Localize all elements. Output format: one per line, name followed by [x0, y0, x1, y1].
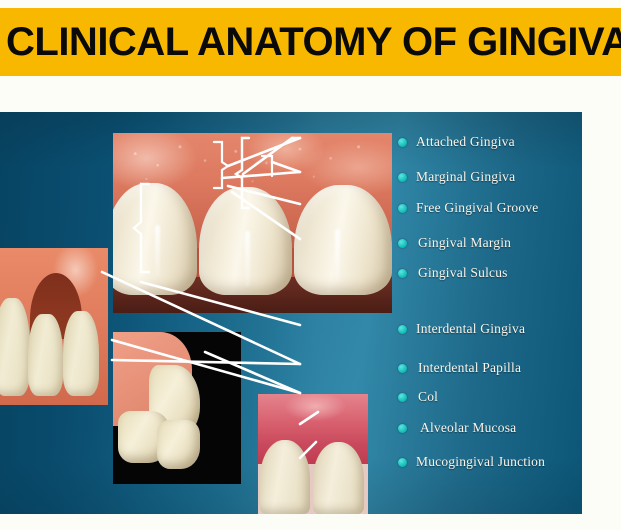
label-text-alveolar-mucosa: Alveolar Mucosa: [420, 420, 516, 436]
tooth-highlight: [245, 231, 250, 287]
label-row-attached-gingiva[interactable]: Attached Gingiva: [398, 134, 515, 150]
label-text-attached-gingiva: Attached Gingiva: [416, 134, 515, 150]
label-row-gingival-margin[interactable]: Gingival Margin: [398, 235, 511, 251]
label-row-interdental-gingiva[interactable]: Interdental Gingiva: [398, 321, 525, 337]
title-banner: CLINICAL ANATOMY OF GINGIVA: [0, 8, 621, 76]
bullet-dot-icon: [398, 269, 407, 278]
label-row-alveolar-mucosa[interactable]: Alveolar Mucosa: [398, 420, 516, 436]
tooth-highlight: [155, 225, 160, 277]
label-row-interdental-papilla[interactable]: Interdental Papilla: [398, 360, 521, 376]
page-title: CLINICAL ANATOMY OF GINGIVA: [0, 22, 621, 62]
bullet-dot-icon: [398, 138, 407, 147]
bullet-dot-icon: [398, 204, 407, 213]
tooth-right: [294, 185, 392, 295]
main-gingiva-photo: [113, 133, 392, 313]
tooth-left: [0, 298, 30, 395]
tooth-right: [63, 311, 100, 396]
tooth-center: [28, 314, 63, 396]
bullet-dot-icon: [398, 424, 407, 433]
bullet-dot-icon: [398, 364, 407, 373]
label-text-interdental-gingiva: Interdental Gingiva: [416, 321, 525, 337]
interdental-col-photo: [113, 332, 241, 484]
label-text-marginal-gingiva: Marginal Gingiva: [416, 169, 515, 185]
label-text-mucogingival-junction: Mucogingival Junction: [416, 454, 545, 470]
slide-root: CLINICAL ANATOMY OF GINGIVA: [0, 0, 621, 530]
label-text-gingival-margin: Gingival Margin: [418, 235, 511, 251]
bullet-dot-icon: [398, 458, 407, 467]
label-text-free-gingival-groove: Free Gingival Groove: [416, 200, 538, 216]
bullet-dot-icon: [398, 173, 407, 182]
label-row-free-gingival-groove[interactable]: Free Gingival Groove: [398, 200, 538, 216]
tooth-left: [260, 440, 310, 514]
label-row-marginal-gingiva[interactable]: Marginal Gingiva: [398, 169, 515, 185]
mucogingival-junction-photo: [258, 394, 368, 514]
bullet-dot-icon: [398, 239, 407, 248]
label-row-gingival-sulcus[interactable]: Gingival Sulcus: [398, 265, 508, 281]
label-text-interdental-papilla: Interdental Papilla: [418, 360, 521, 376]
label-text-gingival-sulcus: Gingival Sulcus: [418, 265, 508, 281]
label-row-col[interactable]: Col: [398, 389, 438, 405]
label-text-col: Col: [418, 389, 438, 405]
bullet-dot-icon: [398, 325, 407, 334]
tooth-right: [313, 442, 364, 514]
label-row-mucogingival-junction[interactable]: Mucogingival Junction: [398, 454, 545, 470]
left-stained-gingiva-photo: [0, 248, 108, 405]
tooth-highlight: [335, 229, 340, 283]
tooth-lower-right: [157, 420, 201, 469]
label-list: Attached GingivaMarginal GingivaFree Gin…: [398, 112, 582, 514]
bullet-dot-icon: [398, 393, 407, 402]
